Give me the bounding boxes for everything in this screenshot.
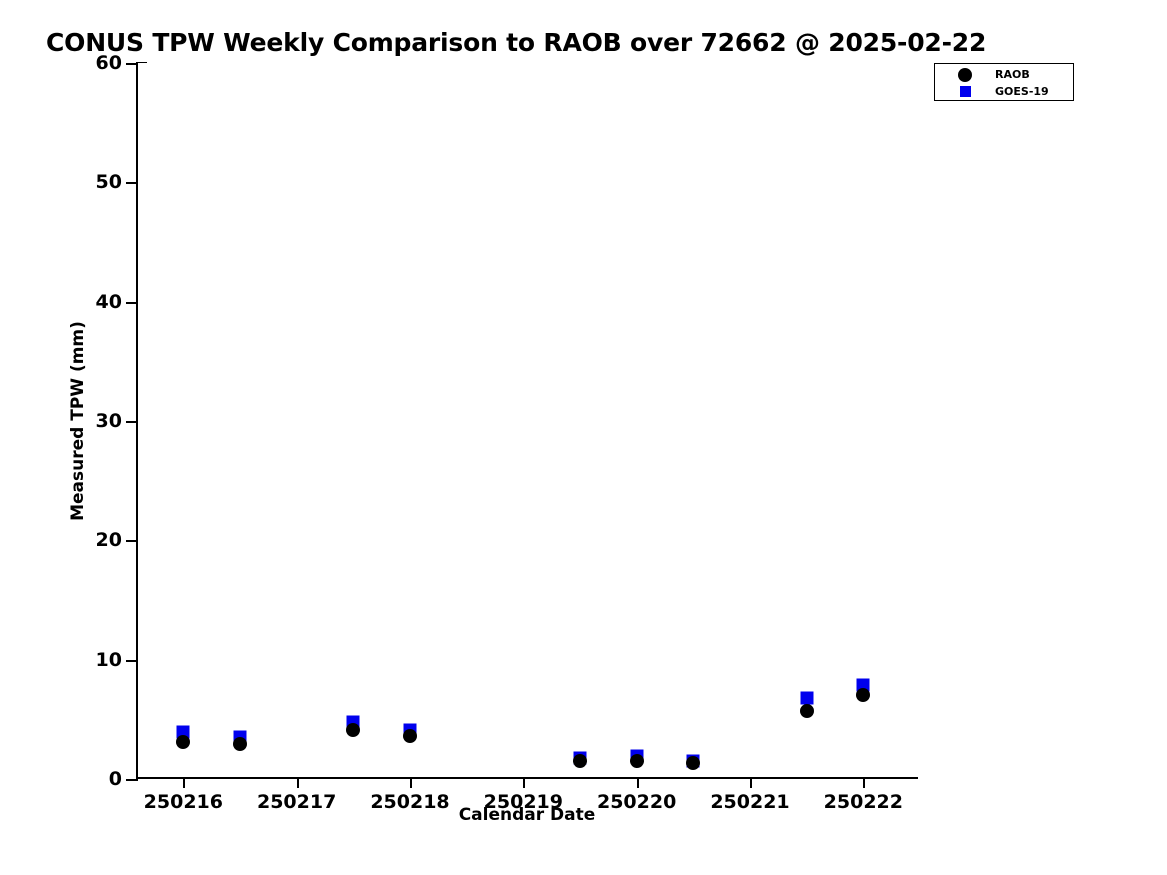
x-axis-label: Calendar Date xyxy=(459,805,596,825)
plot-area: 0102030405060 25021625021725021825021925… xyxy=(136,63,918,779)
data-point-raob xyxy=(176,735,190,749)
y-tick-mark xyxy=(126,421,138,423)
legend-item-goes19: GOES-19 xyxy=(935,83,1073,100)
x-tick-mark xyxy=(183,777,185,788)
y-tick-label: 0 xyxy=(109,768,122,790)
x-tick-label: 250220 xyxy=(597,791,676,813)
y-tick-mark xyxy=(126,182,138,184)
chart-title: CONUS TPW Weekly Comparison to RAOB over… xyxy=(46,28,986,57)
legend-circle-marker-icon xyxy=(935,68,995,82)
x-tick-mark xyxy=(863,777,865,788)
y-tick-mark xyxy=(126,660,138,662)
legend-square-marker-icon xyxy=(935,86,995,97)
data-point-raob xyxy=(630,754,644,768)
data-point-goes-19 xyxy=(800,691,813,704)
data-point-raob xyxy=(800,704,814,718)
legend-label-raob: RAOB xyxy=(995,68,1030,81)
y-tick-label: 20 xyxy=(96,529,122,551)
y-tick-mark xyxy=(126,302,138,304)
data-point-raob xyxy=(573,754,587,768)
x-tick-label: 250217 xyxy=(257,791,336,813)
x-tick-mark xyxy=(297,777,299,788)
legend-item-raob: RAOB xyxy=(935,66,1073,83)
data-point-raob xyxy=(403,729,417,743)
x-tick-mark xyxy=(750,777,752,788)
chart-legend: RAOB GOES-19 xyxy=(934,63,1074,101)
data-point-raob xyxy=(686,756,700,770)
data-point-raob xyxy=(346,723,360,737)
y-tick-label: 30 xyxy=(96,410,122,432)
legend-label-goes19: GOES-19 xyxy=(995,85,1049,98)
y-tick-label: 40 xyxy=(96,291,122,313)
y-tick-label: 10 xyxy=(96,649,122,671)
y-tick-label: 60 xyxy=(96,52,122,74)
x-tick-label: 250222 xyxy=(824,791,903,813)
chart-figure: CONUS TPW Weekly Comparison to RAOB over… xyxy=(0,0,1167,875)
x-tick-mark xyxy=(523,777,525,788)
y-tick-mark xyxy=(126,540,138,542)
x-tick-label: 250218 xyxy=(370,791,449,813)
y-tick-label: 50 xyxy=(96,171,122,193)
data-point-raob xyxy=(856,688,870,702)
x-tick-mark xyxy=(410,777,412,788)
x-tick-label: 250216 xyxy=(144,791,223,813)
y-axis-label: Measured TPW (mm) xyxy=(68,321,88,521)
y-tick-mark xyxy=(126,63,138,65)
x-tick-mark xyxy=(637,777,639,788)
y-tick-mark xyxy=(126,779,138,781)
data-point-raob xyxy=(233,737,247,751)
x-tick-label: 250221 xyxy=(710,791,789,813)
